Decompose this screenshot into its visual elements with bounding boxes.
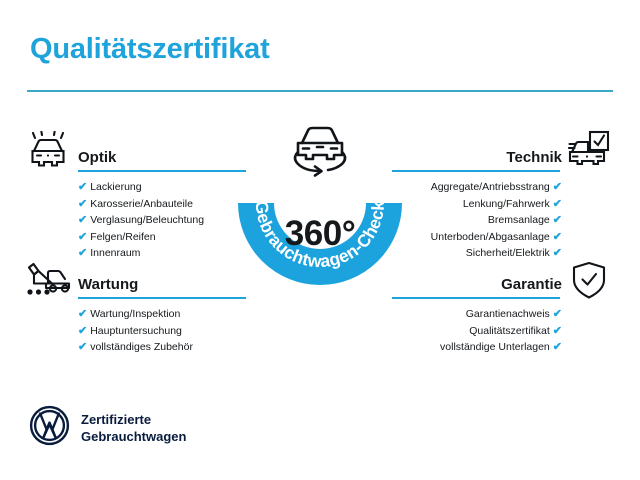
check-icon: ✔ [553,214,562,226]
check-icon: ✔ [78,247,87,259]
list-item: Sicherheit/Elektrik✔ [392,245,562,262]
check-icon: ✔ [553,247,562,259]
car-rotate-icon [284,121,356,188]
section-heading: Wartung [78,275,248,294]
check-icon: ✔ [78,325,87,337]
list-item: Bremsanlage✔ [392,212,562,229]
section-wartung: Wartung ✔Wartung/Inspektion ✔Hauptunters… [78,275,248,356]
check-icon: ✔ [78,181,87,193]
list-item: ✔Innenraum [78,245,248,262]
list-item: ✔vollständiges Zubehör [78,339,248,356]
car-shine-icon [26,131,70,176]
check-icon: ✔ [553,198,562,210]
footer-brand-text: Zertifizierte Gebrauchtwagen [81,411,186,445]
list-item-label: Unterboden/Abgasanlage [431,231,550,243]
title-divider [27,90,613,92]
list-item: ✔Hauptuntersuchung [78,323,248,340]
certificate-page: Qualitätszertifikat Optik ✔Lackierung ✔K… [0,0,640,480]
section-checklist: ✔Wartung/Inspektion ✔Hauptuntersuchung ✔… [78,306,248,356]
section-underline [78,170,246,172]
list-item-label: Karosserie/Anbauteile [90,198,193,210]
badge-degrees: 360° [229,214,411,254]
check-icon: ✔ [553,308,562,320]
car-checkbox-icon [568,130,610,175]
list-item: Qualitätszertifikat✔ [392,323,562,340]
vw-logo [29,405,70,451]
check-icon: ✔ [78,341,87,353]
car-service-pencil-icon [24,263,72,308]
list-item: Aggregate/Antriebsstrang✔ [392,179,562,196]
check-icon: ✔ [78,198,87,210]
shield-check-icon [570,261,608,306]
section-heading: Technik [392,148,562,167]
list-item: Unterboden/Abgasanlage✔ [392,229,562,246]
section-technik: Technik Aggregate/Antriebsstrang✔ Lenkun… [392,148,562,262]
section-underline [392,170,560,172]
list-item-label: Verglasung/Beleuchtung [90,214,204,226]
list-item-label: Aggregate/Antriebsstrang [431,181,550,193]
section-underline [78,297,246,299]
check-icon: ✔ [78,308,87,320]
list-item-label: Qualitätszertifikat [469,325,550,337]
list-item-label: Lenkung/Fahrwerk [463,198,550,210]
list-item-label: Sicherheit/Elektrik [466,247,550,259]
footer-line-2: Gebrauchtwagen [81,428,186,445]
list-item: ✔Wartung/Inspektion [78,306,248,323]
list-item: Lenkung/Fahrwerk✔ [392,196,562,213]
check-icon: ✔ [553,341,562,353]
list-item-label: Lackierung [90,181,141,193]
list-item: ✔Lackierung [78,179,248,196]
section-checklist: Aggregate/Antriebsstrang✔ Lenkung/Fahrwe… [392,179,562,262]
footer-line-1: Zertifizierte [81,411,186,428]
list-item-label: Wartung/Inspektion [90,308,180,320]
section-checklist: Garantienachweis✔ Qualitätszertifikat✔ v… [392,306,562,356]
list-item-label: Hauptuntersuchung [90,325,182,337]
check-icon: ✔ [553,325,562,337]
list-item-label: Garantienachweis [466,308,550,320]
list-item-label: vollständiges Zubehör [90,341,193,353]
list-item: ✔Felgen/Reifen [78,229,248,246]
section-heading: Optik [78,148,248,167]
list-item: Garantienachweis✔ [392,306,562,323]
list-item-label: vollständige Unterlagen [440,341,550,353]
section-heading: Garantie [392,275,562,294]
badge-360-gebrauchtwagen-check: Gebrauchtwagen-Check 360° [229,156,411,319]
list-item: ✔Verglasung/Beleuchtung [78,212,248,229]
section-optik: Optik ✔Lackierung ✔Karosserie/Anbauteile… [78,148,248,262]
list-item-label: Bremsanlage [488,214,550,226]
check-icon: ✔ [553,181,562,193]
section-underline [392,297,560,299]
check-icon: ✔ [78,214,87,226]
list-item-label: Innenraum [90,247,140,259]
list-item: ✔Karosserie/Anbauteile [78,196,248,213]
page-title: Qualitätszertifikat [30,33,270,66]
check-icon: ✔ [78,231,87,243]
list-item-label: Felgen/Reifen [90,231,155,243]
check-icon: ✔ [553,231,562,243]
footer-brand: Zertifizierte Gebrauchtwagen [29,405,186,451]
section-checklist: ✔Lackierung ✔Karosserie/Anbauteile ✔Verg… [78,179,248,262]
list-item: vollständige Unterlagen✔ [392,339,562,356]
section-garantie: Garantie Garantienachweis✔ Qualitätszert… [392,275,562,356]
